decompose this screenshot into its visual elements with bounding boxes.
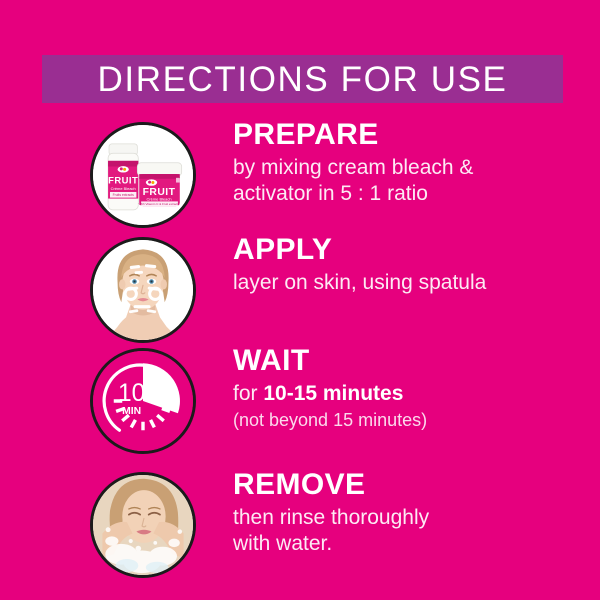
step-icon-wrap-remove <box>90 472 196 578</box>
face-cream-application-icon <box>90 237 196 343</box>
step-heading: REMOVE <box>233 468 583 502</box>
step-heading: WAIT <box>233 344 583 378</box>
wait-prefix: for <box>233 382 263 405</box>
step-icon-wrap-prepare: FRUIT Crème Bleach Fruits extracts <box>90 122 196 228</box>
svg-text:Fruits extracts: Fruits extracts <box>113 193 135 197</box>
step-body-line-1: then rinse thoroughly <box>233 505 583 531</box>
timer-unit-text: MIN <box>122 406 141 417</box>
face-illustration <box>93 240 193 340</box>
step-note: (not beyond 15 minutes) <box>233 409 583 432</box>
step-body-line-1: layer on skin, using spatula <box>233 270 583 296</box>
wait-duration: 10-15 minutes <box>263 382 403 405</box>
svg-text:Crème Bleach: Crème Bleach <box>111 186 136 191</box>
step-heading: APPLY <box>233 233 583 267</box>
step-body-line-1: for 10-15 minutes <box>233 381 583 407</box>
timer-number-text: 10 <box>118 380 145 407</box>
product-jars-icon: FRUIT Crème Bleach Fruits extracts <box>90 122 196 228</box>
svg-text:With Vitamin C & Fruit extract: With Vitamin C & Fruit extracts <box>139 202 180 206</box>
directions-for-use-poster: DIRECTIONS FOR USE <box>0 0 600 600</box>
svg-text:FRUIT: FRUIT <box>108 174 138 185</box>
rinse-illustration <box>93 475 193 575</box>
step-text-remove: REMOVE then rinse thoroughly with water. <box>233 468 583 557</box>
step-body-line-2: activator in 5 : 1 ratio <box>233 181 583 207</box>
timer-10-min-icon: 10 MIN <box>90 348 196 454</box>
step-icon-wrap-apply <box>90 237 196 343</box>
face-rinse-water-icon <box>90 472 196 578</box>
header-banner: DIRECTIONS FOR USE <box>42 55 563 103</box>
step-text-wait: WAIT for 10-15 minutes (not beyond 15 mi… <box>233 344 583 432</box>
timer-illustration: 10 MIN <box>93 351 193 451</box>
step-body-line-2: with water. <box>233 531 583 557</box>
step-body-line-1: by mixing cream bleach & <box>233 155 583 181</box>
product-jars-illustration: FRUIT Crème Bleach Fruits extracts <box>93 125 193 225</box>
step-text-apply: APPLY layer on skin, using spatula <box>233 233 583 296</box>
page-title: DIRECTIONS FOR USE <box>98 62 508 97</box>
step-icon-wrap-wait: 10 MIN <box>90 348 196 454</box>
step-text-prepare: PREPARE by mixing cream bleach & activat… <box>233 118 583 207</box>
step-heading: PREPARE <box>233 118 583 152</box>
svg-text:Crème Bleach: Crème Bleach <box>147 196 172 201</box>
